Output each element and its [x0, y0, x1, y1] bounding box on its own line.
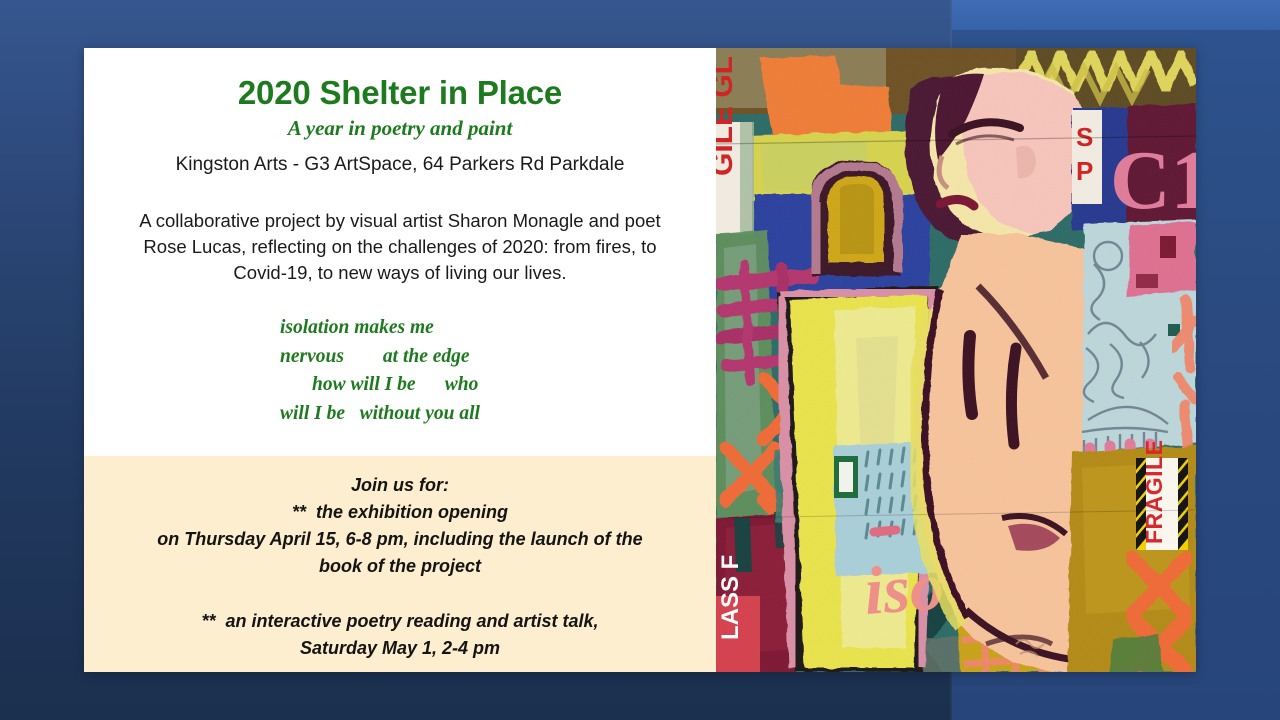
events-opening-line: on Thursday April 15, 6-8 pm, including … — [84, 526, 716, 553]
events-opening-block: Join us for: ** the exhibition opening o… — [84, 472, 716, 580]
events-opening-line: book of the project — [84, 553, 716, 580]
artwork-painting: GILE GL — [716, 48, 1196, 672]
poem-line: nervous at the edge — [84, 343, 716, 372]
events-talk-block: ** an interactive poetry reading and art… — [84, 608, 716, 662]
poster-subtitle: A year in poetry and paint — [84, 116, 716, 141]
slide-canvas: 2020 Shelter in Place A year in poetry a… — [0, 0, 1280, 720]
events-talk-line: ** an interactive poetry reading and art… — [84, 608, 716, 635]
artwork-image: GILE GL — [716, 48, 1196, 672]
events-intro: Join us for: — [84, 472, 716, 499]
background-panel-right-top-strip — [952, 0, 1280, 30]
poster-card: 2020 Shelter in Place A year in poetry a… — [84, 48, 1196, 672]
poster-text-column: 2020 Shelter in Place A year in poetry a… — [84, 48, 716, 672]
poem-line: will I be without you all — [84, 400, 716, 429]
page-title: 2020 Shelter in Place — [84, 74, 716, 112]
poem-line: isolation makes me — [84, 314, 716, 343]
project-description: A collaborative project by visual artist… — [130, 208, 670, 286]
events-opening-line: ** the exhibition opening — [84, 499, 716, 526]
venue-line: Kingston Arts - G3 ArtSpace, 64 Parkers … — [84, 154, 716, 176]
poem-line: how will I be who — [84, 371, 716, 400]
poem-block: isolation makes me nervous at the edge h… — [84, 314, 716, 428]
events-talk-line: Saturday May 1, 2-4 pm — [84, 635, 716, 662]
